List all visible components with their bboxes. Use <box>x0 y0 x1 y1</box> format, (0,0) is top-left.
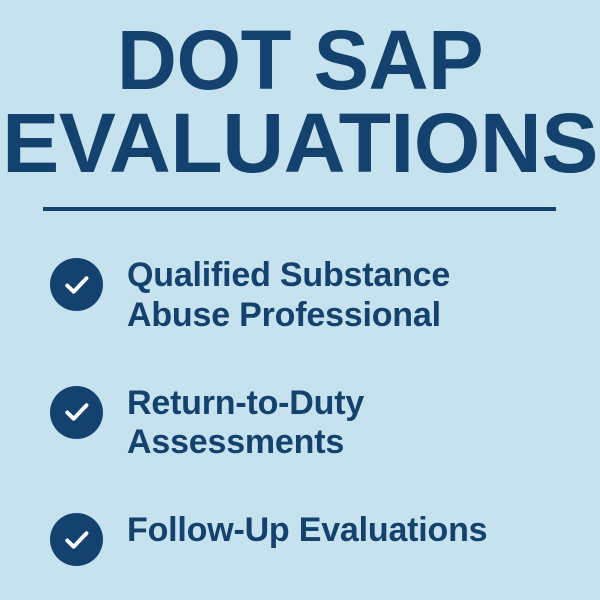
list-item: Follow-Up Evaluations <box>50 510 570 566</box>
check-circle-icon <box>50 258 103 311</box>
list-item-label-line-2: Assessments <box>127 423 364 463</box>
list-item: Return-to-Duty Assessments <box>50 383 570 464</box>
list-item-label: Follow-Up Evaluations <box>127 510 487 551</box>
title-divider <box>43 207 556 211</box>
poster-canvas: DOT SAP EVALUATIONS Qualified Substance … <box>0 0 600 600</box>
check-circle-icon <box>50 513 103 566</box>
page-title-line-1: DOT SAP <box>3 20 597 101</box>
list-item-label-line-1: Follow-Up Evaluations <box>127 511 487 551</box>
list-item-label: Return-to-Duty Assessments <box>127 383 364 464</box>
list-item-label-line-1: Qualified Substance <box>127 256 450 296</box>
feature-list: Qualified Substance Abuse Professional R… <box>50 255 570 566</box>
page-title: DOT SAP EVALUATIONS <box>0 20 600 183</box>
check-circle-icon <box>50 386 103 439</box>
list-item-label: Qualified Substance Abuse Professional <box>127 255 450 336</box>
list-item-label-line-2: Abuse Professional <box>127 296 450 336</box>
list-item: Qualified Substance Abuse Professional <box>50 255 570 336</box>
list-item-label-line-1: Return-to-Duty <box>127 384 364 424</box>
page-title-line-2: EVALUATIONS <box>0 103 600 184</box>
